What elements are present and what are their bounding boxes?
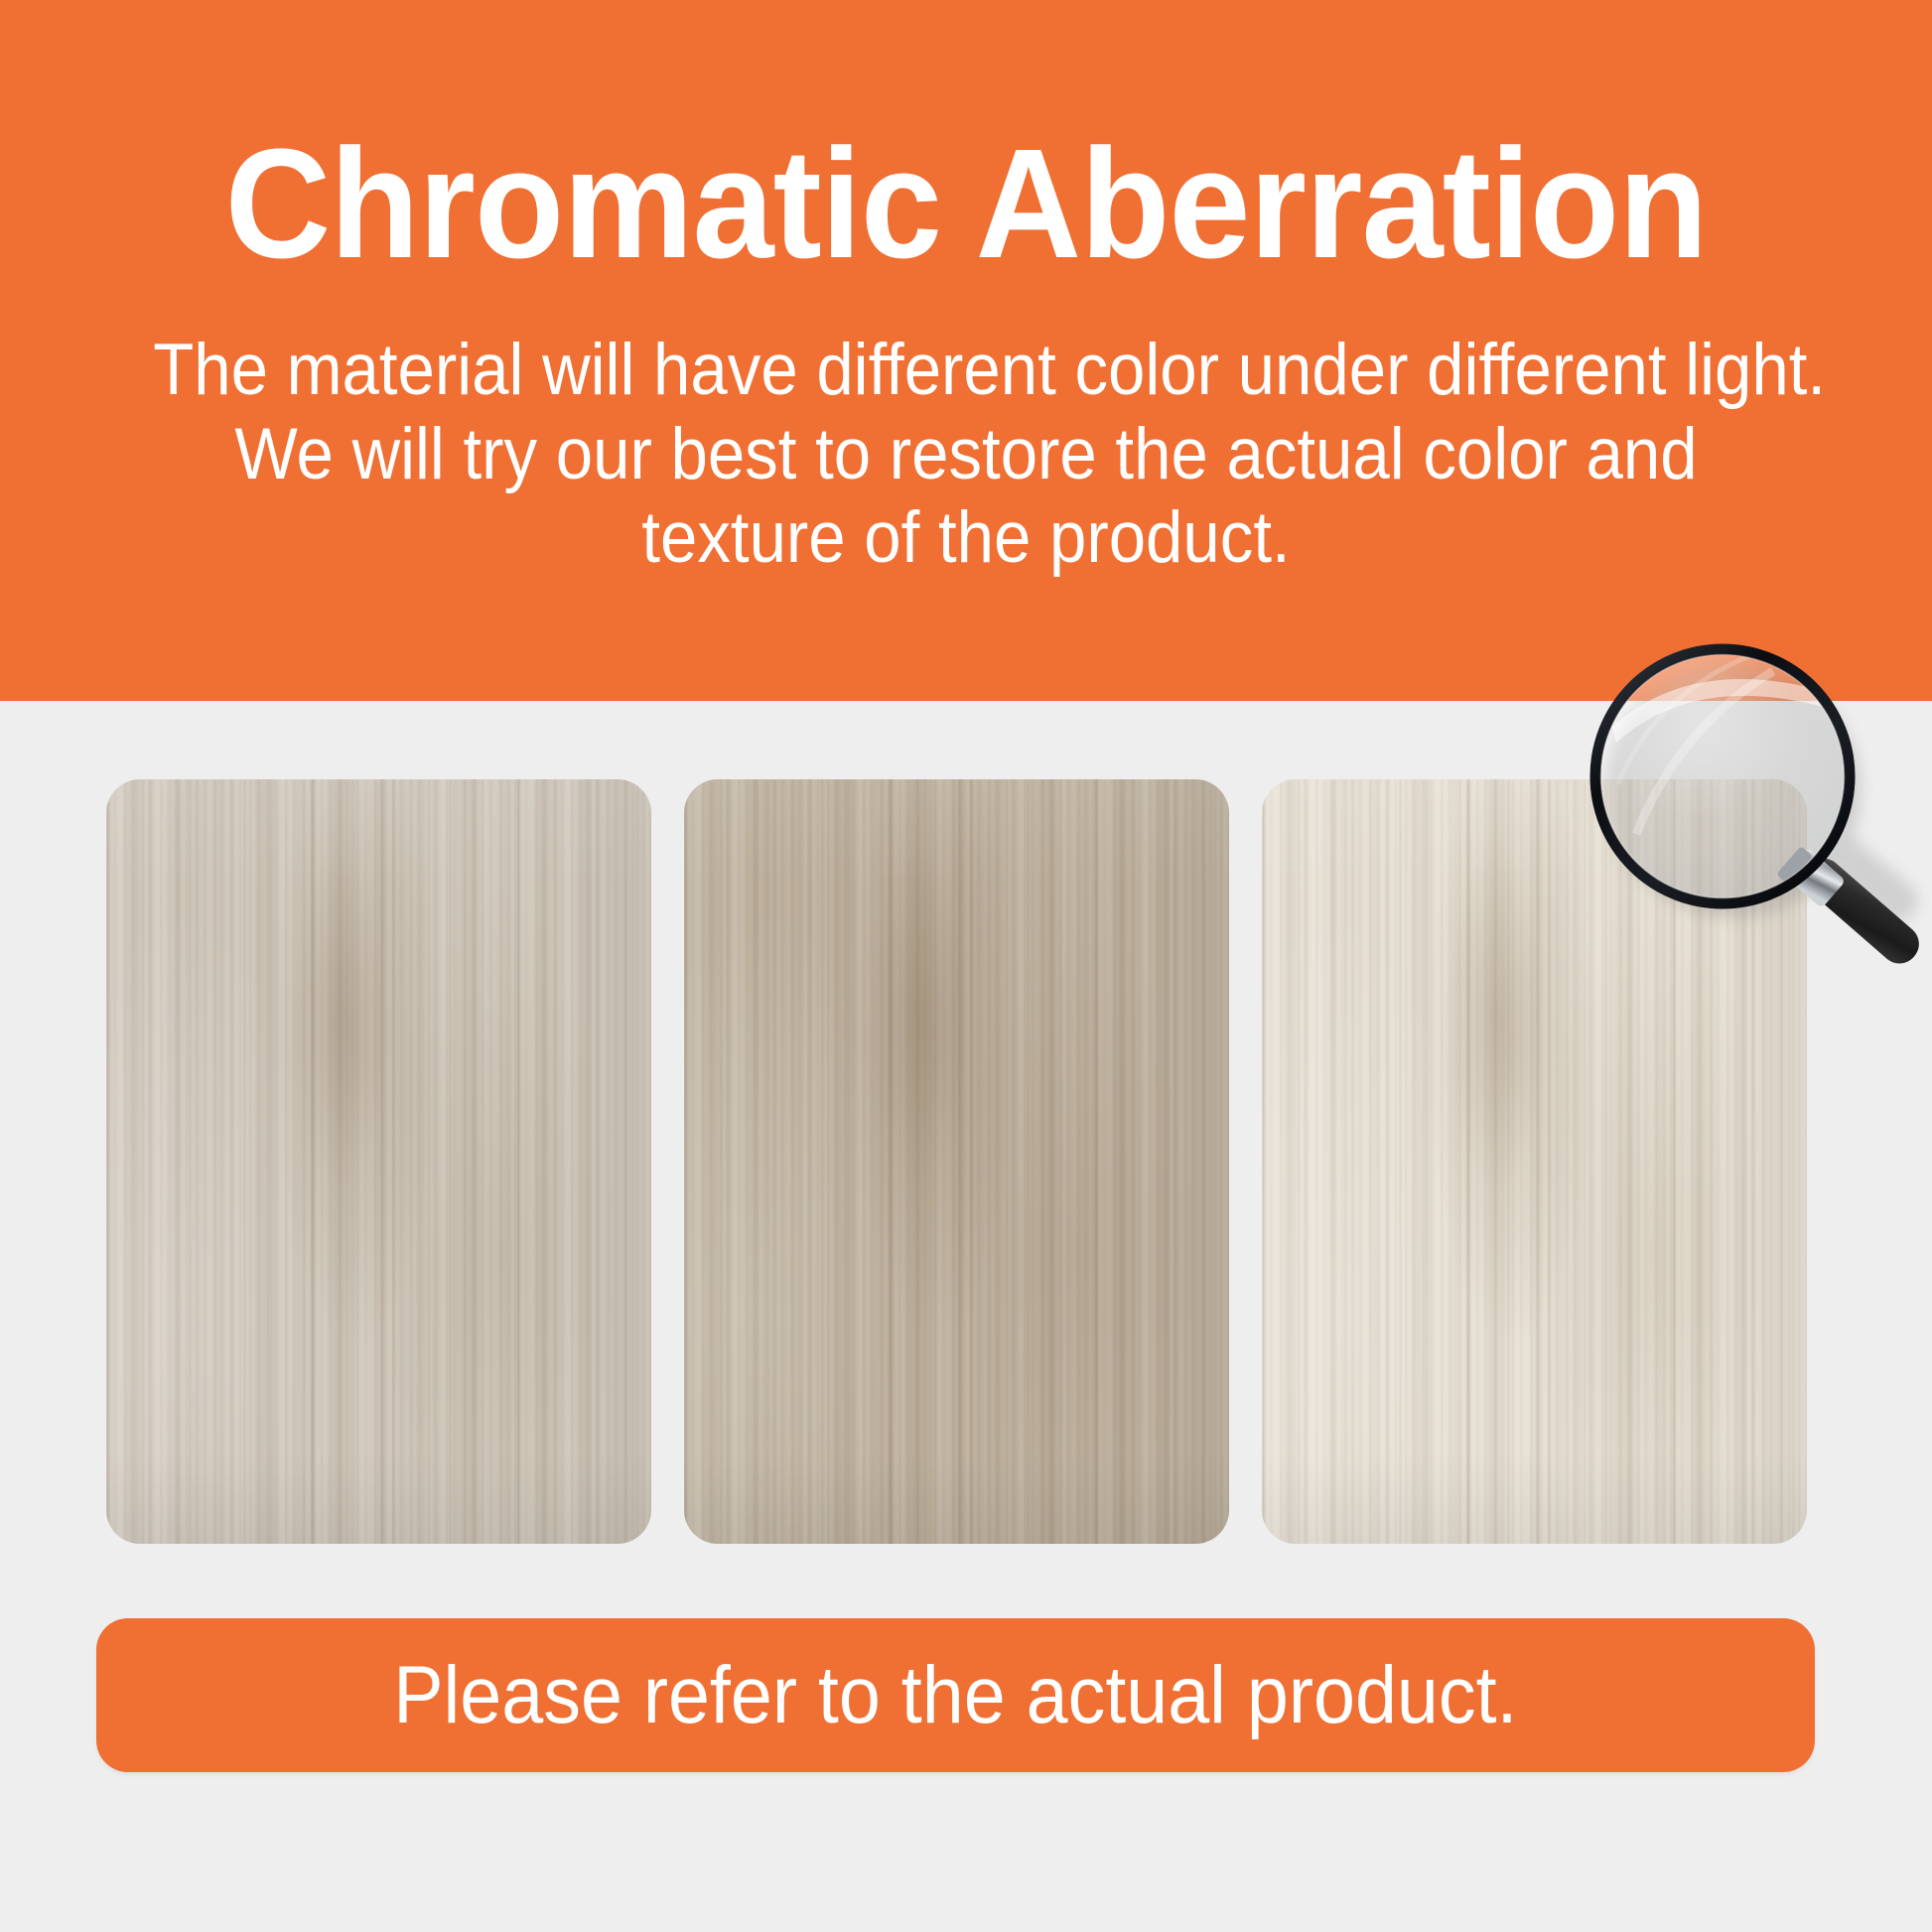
chromatic-aberration-poster: Chromatic Aberration The material will h…: [0, 0, 1932, 1932]
page-title: Chromatic Aberration: [225, 123, 1708, 287]
sample-panel-group: [106, 779, 1807, 1544]
wood-shading-layer: [1262, 779, 1807, 1544]
sample-panel-3: [1262, 779, 1807, 1544]
wood-shading-layer: [106, 779, 651, 1544]
sample-panel-1: [106, 779, 651, 1544]
wood-shading-layer: [684, 779, 1229, 1544]
subtitle-line-3: texture of the product.: [153, 496, 1779, 581]
refer-to-actual-product-banner[interactable]: Please refer to the actual product.: [96, 1618, 1815, 1772]
subtitle-line-2: We will try our best to restore the actu…: [153, 413, 1779, 497]
subtitle-line-1: The material will have different color u…: [153, 329, 1779, 413]
sample-panel-2: [684, 779, 1229, 1544]
header-subtitle: The material will have different color u…: [153, 329, 1779, 581]
header-banner: Chromatic Aberration The material will h…: [0, 0, 1932, 701]
cta-label: Please refer to the actual product.: [393, 1618, 1517, 1772]
